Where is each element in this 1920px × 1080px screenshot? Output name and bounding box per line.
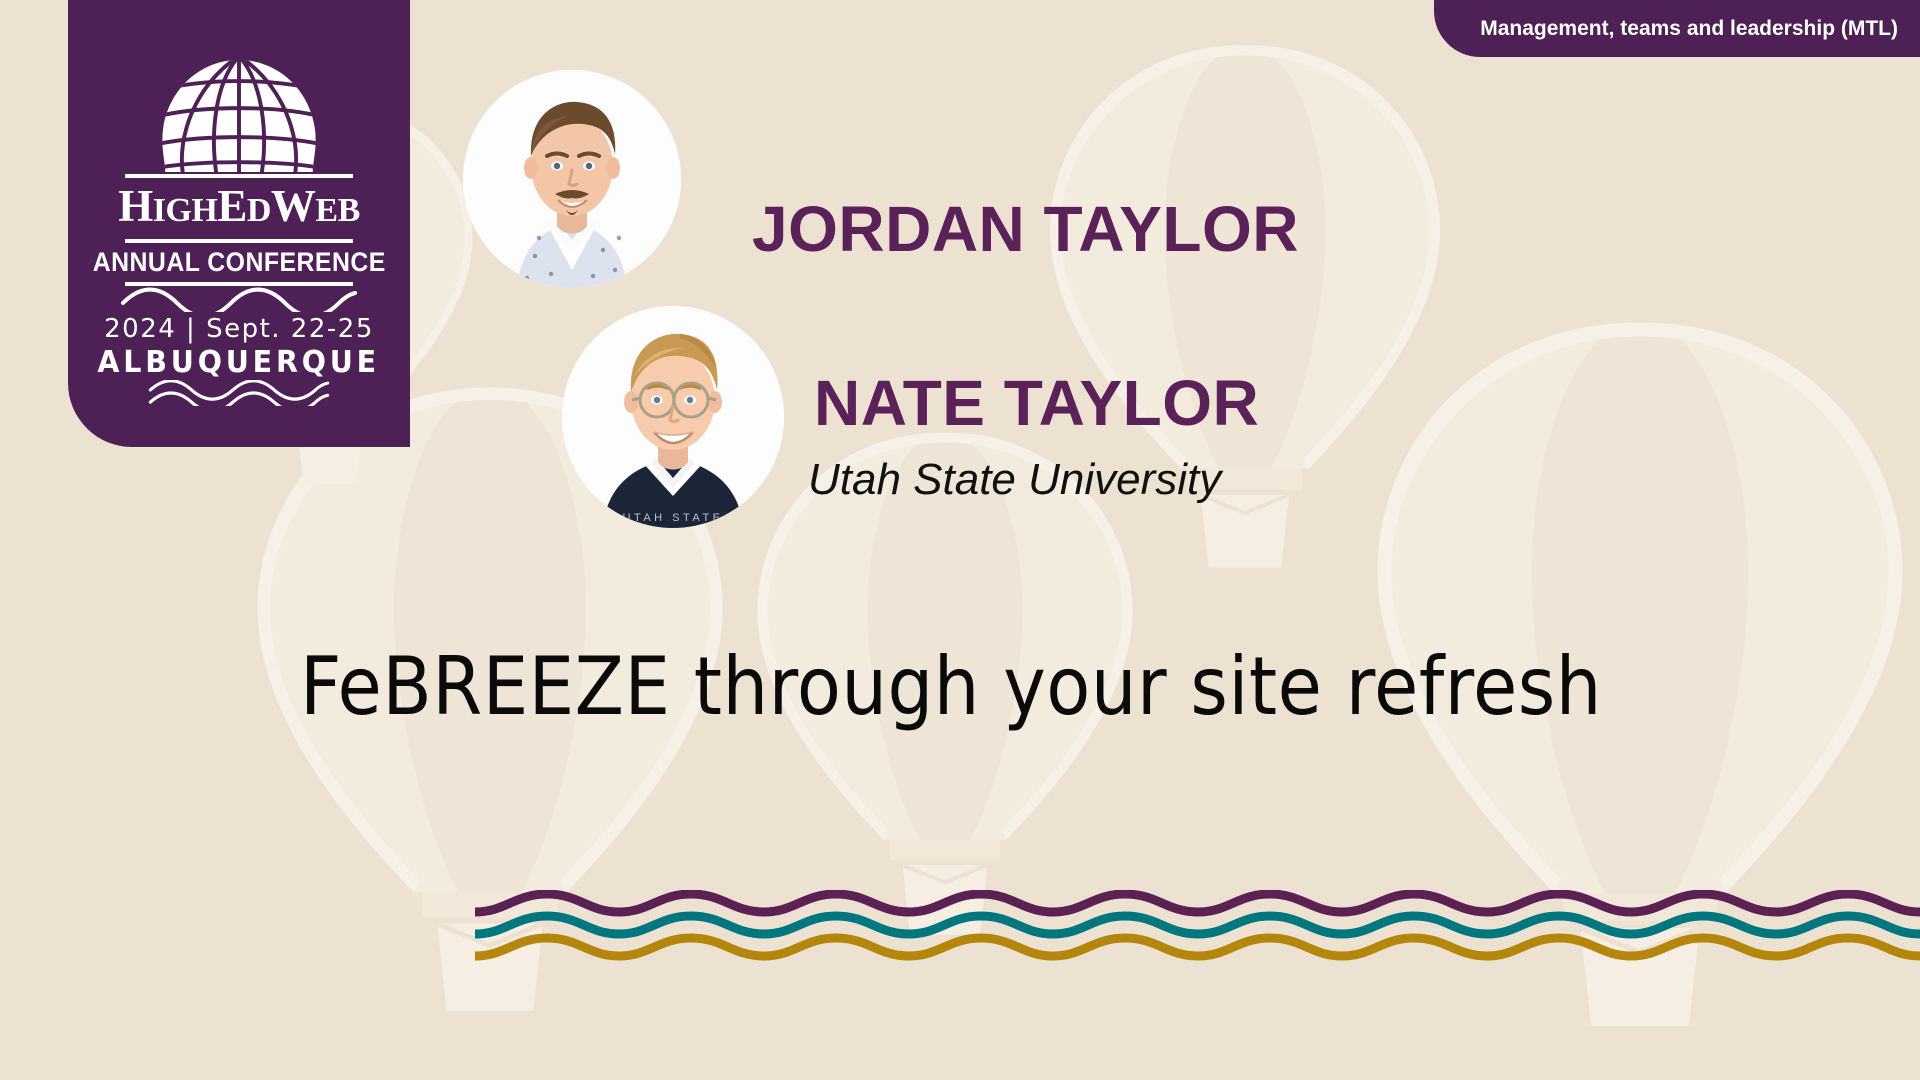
wave-line-gold — [475, 938, 1920, 956]
speaker-name-nate-taylor: NATE TAYLOR — [814, 366, 1259, 440]
logo-city: ALBUQUERQUE — [98, 345, 381, 380]
svg-text:UTAH STATE: UTAH STATE — [623, 512, 724, 524]
logo-subtitle: ANNUAL CONFERENCE — [92, 247, 385, 278]
logo-wave-top-icon — [119, 286, 359, 312]
wave-line-purple — [475, 894, 1920, 912]
logo-divider-mid — [125, 239, 353, 243]
speaker-name-jordan-taylor: JORDAN TAYLOR — [752, 192, 1299, 266]
globe-grid-icon — [154, 56, 324, 174]
logo-date: 2024 | Sept. 22-25 — [104, 314, 374, 344]
session-title: FeBREEZE through your site refresh — [300, 640, 1602, 733]
speaker-organization-nate-taylor: Utah State University — [808, 455, 1221, 505]
logo-wave-bottom-icon — [119, 380, 359, 406]
speaker-headshot-nate-taylor: UTAH STATE — [562, 306, 784, 528]
track-badge: Management, teams and leadership (MTL) — [1434, 0, 1920, 57]
wave-line-teal — [475, 916, 1920, 934]
highedweb-logo-panel: HIGHEDWEB ANNUAL CONFERENCE 2024 | Sept.… — [68, 0, 410, 447]
logo-divider-top — [125, 174, 353, 178]
bottom-wave-decoration — [475, 890, 1920, 970]
speaker-headshot-jordan-taylor — [463, 70, 681, 288]
track-badge-label: Management, teams and leadership (MTL) — [1480, 17, 1898, 41]
conference-slide: HIGHEDWEB ANNUAL CONFERENCE 2024 | Sept.… — [0, 0, 1920, 1080]
logo-wordmark: HIGHEDWEB — [118, 181, 360, 236]
